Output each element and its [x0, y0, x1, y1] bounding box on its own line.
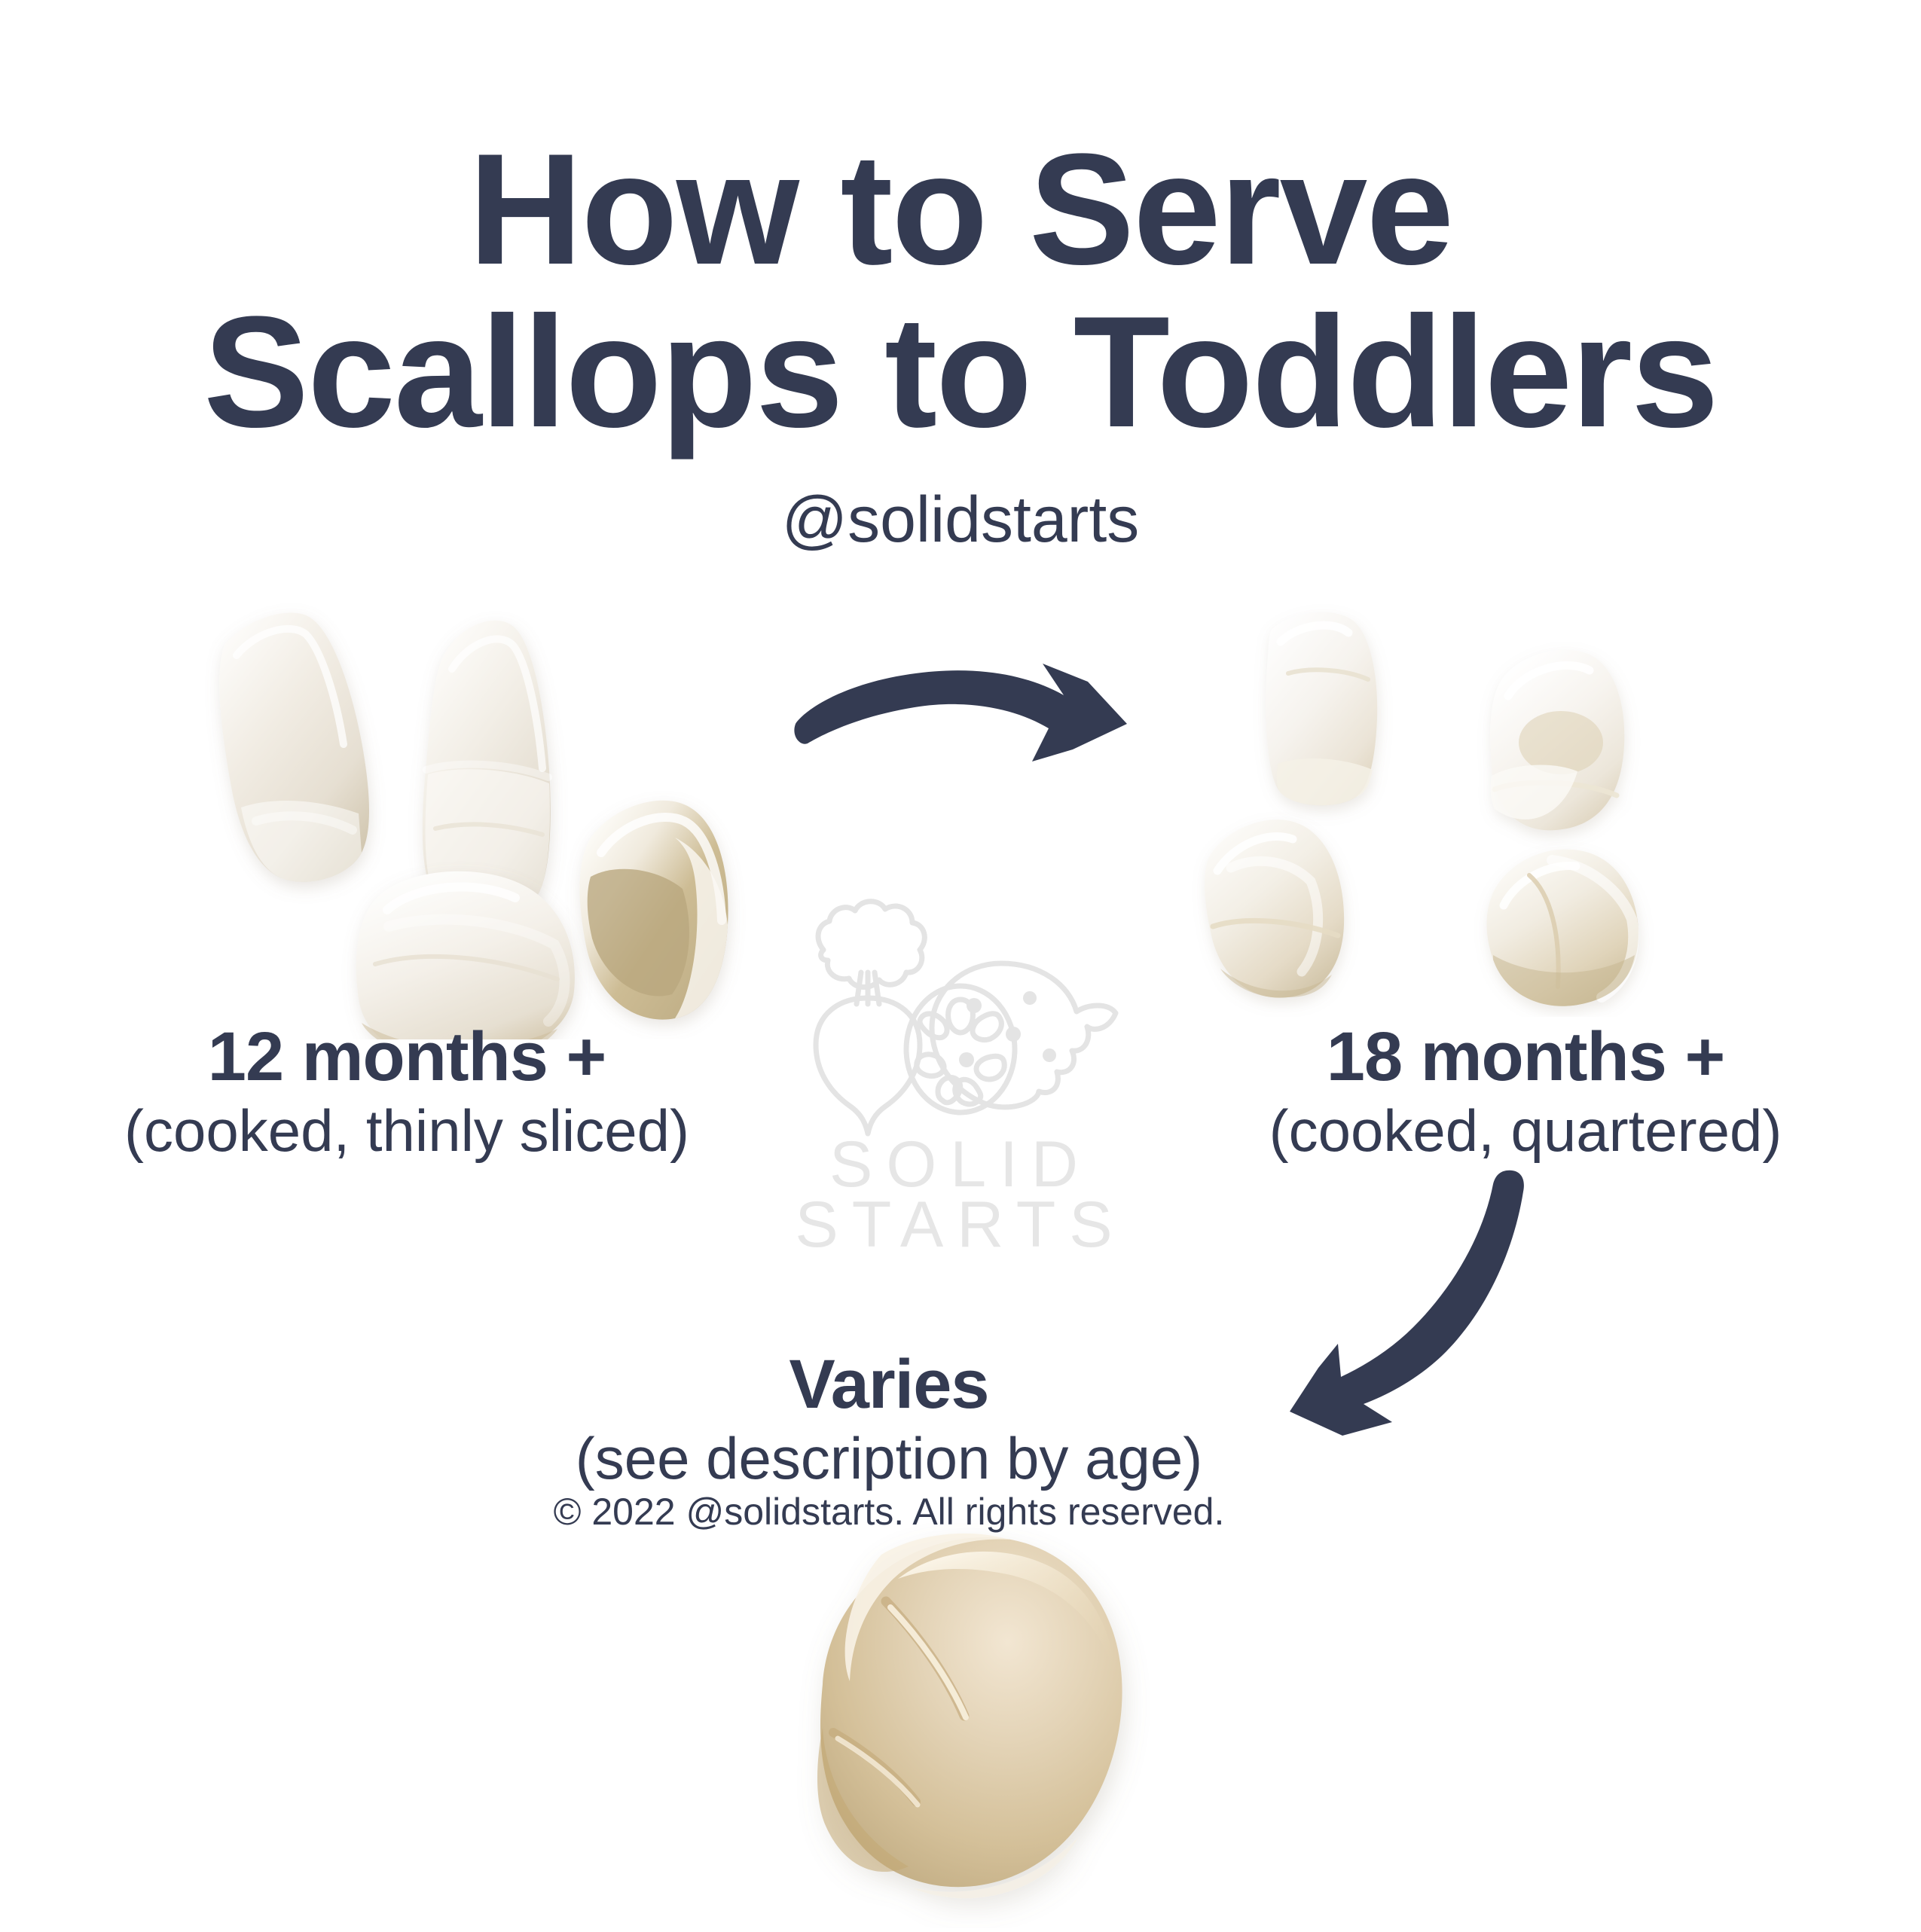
scallop-slice — [219, 612, 369, 881]
scallop-quarters-illustration — [1175, 595, 1838, 1017]
scallop-slice — [579, 801, 728, 1020]
brand-watermark: SOLID STARTS — [765, 885, 1156, 1262]
whole-scallop-illustration — [738, 1506, 1190, 1928]
radish-icon — [816, 902, 924, 1134]
stage-label-18-months: 18 months + (cooked, quartered) — [1164, 1021, 1887, 1164]
scallop-slice — [423, 621, 551, 912]
curved-arrow-right-icon — [783, 652, 1160, 832]
prep-label: (cooked, thinly sliced) — [45, 1098, 768, 1164]
arrow-18-to-varies — [1258, 1152, 1590, 1454]
age-label: Varies — [512, 1348, 1266, 1421]
page-title-line-2: Scallops to Toddlers — [0, 291, 1921, 453]
watermark-brand-line-2: STARTS — [795, 1189, 1125, 1261]
scallop-slices-illustration — [136, 572, 814, 1039]
solid-starts-watermark: SOLID STARTS — [765, 885, 1156, 1262]
scallop-slice — [356, 871, 575, 1039]
scallop-quarter — [1205, 819, 1344, 998]
scallop-quarter — [1487, 850, 1638, 1006]
scallop-quarter — [1266, 612, 1377, 806]
lotus-root-slice-icon — [906, 986, 1015, 1113]
header: How to Serve Scallops to Toddlers @solid… — [0, 128, 1921, 557]
curved-arrow-down-left-icon — [1258, 1152, 1590, 1454]
stage-label-varies: Varies (see description by age) — [512, 1348, 1266, 1491]
brand-handle: @solidstarts — [0, 483, 1921, 557]
copyright-notice: © 2022 @solidstarts. All rights reserved… — [512, 1490, 1266, 1534]
age-label: 12 months + — [45, 1021, 768, 1094]
prep-label: (see description by age) — [512, 1426, 1266, 1491]
food-image-varies — [738, 1506, 1190, 1928]
age-label: 18 months + — [1164, 1021, 1887, 1094]
food-image-12-months — [136, 572, 814, 1039]
infographic-canvas: How to Serve Scallops to Toddlers @solid… — [0, 0, 1921, 1921]
stage-label-12-months: 12 months + (cooked, thinly sliced) — [45, 1021, 768, 1164]
prep-label: (cooked, quartered) — [1164, 1098, 1887, 1164]
whole-scallop — [817, 1534, 1122, 1898]
arrow-12-to-18 — [783, 652, 1160, 832]
page-title-line-1: How to Serve — [0, 128, 1921, 291]
scallop-quarter — [1490, 650, 1624, 831]
food-image-18-months — [1175, 595, 1838, 1017]
